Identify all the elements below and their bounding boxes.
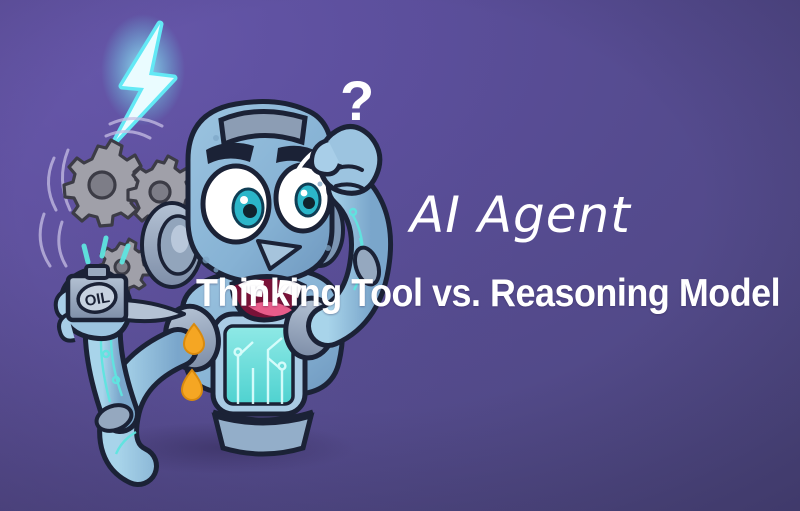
- robot-illustration: ?: [10, 8, 430, 508]
- poster-canvas: ?: [0, 0, 800, 511]
- svg-text:?: ?: [340, 69, 374, 132]
